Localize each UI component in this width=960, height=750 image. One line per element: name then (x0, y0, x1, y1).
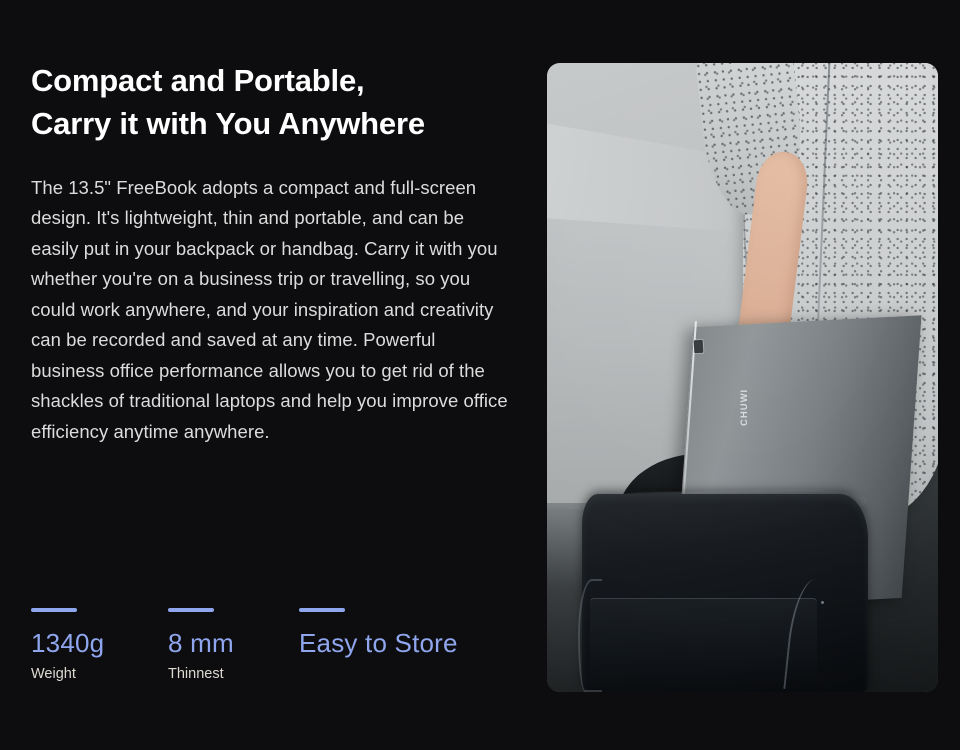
spec-value: 1340g (31, 630, 104, 656)
copy-block: Compact and Portable, Carry it with You … (31, 60, 531, 447)
accent-rule-icon (299, 608, 345, 612)
product-photo: CHUWI (547, 63, 938, 692)
spec-item-weight: 1340g Weight (31, 608, 104, 682)
spec-label: Weight (31, 667, 104, 682)
spec-label: Thinnest (168, 667, 234, 682)
photo-vignette (547, 63, 938, 692)
accent-rule-icon (31, 608, 77, 612)
headline-line-1: Compact and Portable, (31, 60, 531, 103)
page-title: Compact and Portable, Carry it with You … (31, 60, 531, 146)
spec-item-storage: Easy to Store (299, 608, 458, 656)
headline-line-2: Carry it with You Anywhere (31, 103, 531, 146)
spec-value: 8 mm (168, 630, 234, 656)
spec-highlights: 1340g Weight 8 mm Thinnest Easy to Store (31, 608, 531, 698)
accent-rule-icon (168, 608, 214, 612)
spec-value: Easy to Store (299, 630, 458, 656)
product-feature-slide: Compact and Portable, Carry it with You … (0, 0, 960, 750)
description-paragraph: The 13.5" FreeBook adopts a compact and … (31, 173, 513, 448)
spec-item-thickness: 8 mm Thinnest (168, 608, 234, 682)
